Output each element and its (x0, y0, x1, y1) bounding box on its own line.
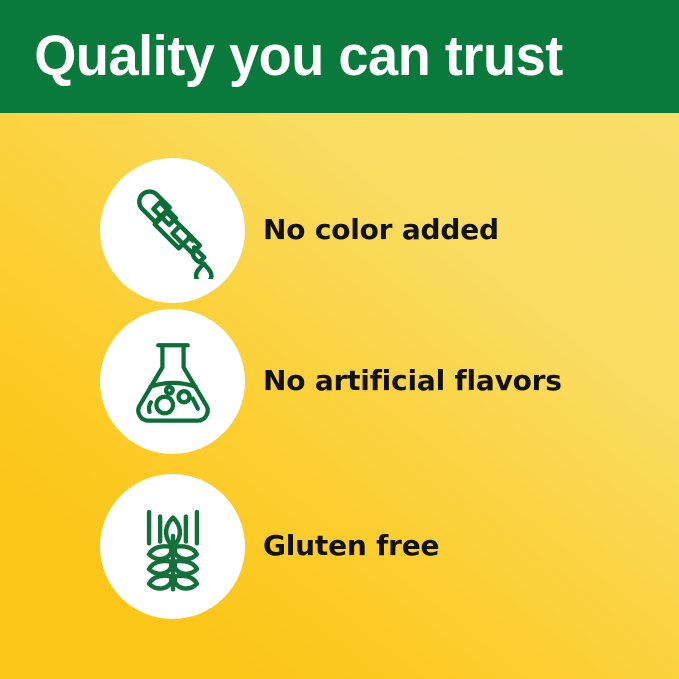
feature-row: Gluten free (0, 474, 679, 619)
icon-badge-no-color-added (100, 158, 245, 303)
quality-infographic: Quality you can trust (0, 0, 679, 679)
feature-row: No color added (0, 158, 679, 303)
wheat-icon (127, 501, 219, 593)
header-band: Quality you can trust (0, 0, 679, 113)
feature-label: Gluten free (263, 531, 439, 562)
page-title: Quality you can trust (0, 28, 563, 85)
icon-badge-gluten-free (100, 474, 245, 619)
feature-label: No color added (263, 215, 499, 246)
feature-label: No artificial flavors (263, 366, 562, 397)
dropper-icon (125, 183, 221, 279)
flask-icon (127, 336, 219, 428)
feature-list: No color added (0, 113, 679, 679)
feature-row: No artificial flavors (0, 309, 679, 454)
icon-badge-no-artificial-flavors (100, 309, 245, 454)
